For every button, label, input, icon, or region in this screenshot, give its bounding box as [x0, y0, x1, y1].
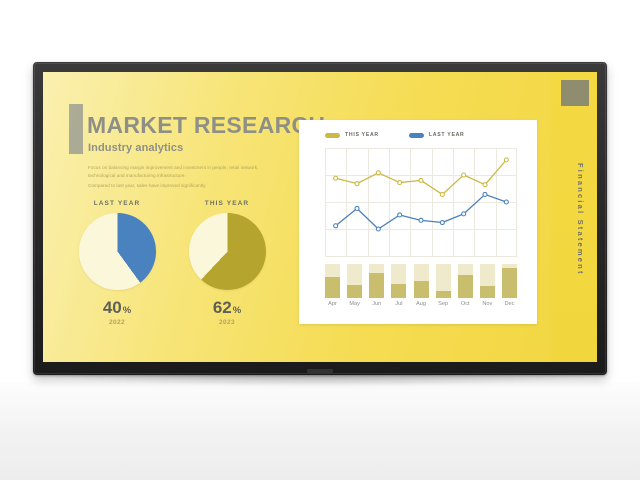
- pie-value-this-year: 62: [213, 298, 232, 317]
- legend-label-this-year: THIS YEAR: [345, 132, 379, 138]
- stacked-bar: [502, 264, 517, 298]
- body-paragraph-2: Compared to last year, sales have improv…: [88, 182, 278, 190]
- bar-series-row: [325, 264, 517, 298]
- month-label: Nov: [480, 301, 495, 307]
- x-axis-month-labels: AprMayJunJulAugSepOctNovDec: [325, 301, 517, 307]
- pie-caption-last-year: LAST YEAR: [63, 200, 171, 207]
- month-label: Dec: [502, 301, 517, 307]
- bar-segment-remaining: [369, 264, 384, 273]
- month-label: Sep: [436, 301, 451, 307]
- title-accent-bar: [69, 104, 83, 154]
- bezel-brand-mark: [307, 369, 333, 373]
- data-point-marker: [398, 213, 402, 217]
- side-strip: Financial Statement: [551, 72, 597, 362]
- stacked-bar: [325, 264, 340, 298]
- stacked-bar: [347, 264, 362, 298]
- legend-item-last-year: LAST YEAR: [409, 132, 465, 138]
- page-subtitle: Industry analytics: [88, 142, 183, 154]
- legend-item-this-year: THIS YEAR: [325, 132, 379, 138]
- month-label: May: [347, 301, 362, 307]
- legend-label-last-year: LAST YEAR: [429, 132, 465, 138]
- bar-segment-filled: [391, 284, 406, 298]
- stacked-bar: [369, 264, 384, 298]
- bar-segment-remaining: [480, 264, 495, 286]
- stacked-bar: [436, 264, 451, 298]
- page-title: MARKET RESEARCH: [87, 112, 325, 139]
- pie-value-last-year: 40: [103, 298, 122, 317]
- pie-caption-this-year: THIS YEAR: [173, 200, 281, 207]
- bar-segment-filled: [480, 286, 495, 298]
- bar-segment-filled: [347, 285, 362, 298]
- legend-swatch-last-year: [409, 133, 424, 138]
- month-label: Apr: [325, 301, 340, 307]
- floor-background: [0, 382, 640, 480]
- chart-legend: THIS YEAR LAST YEAR: [325, 132, 465, 138]
- data-point-marker: [504, 158, 508, 162]
- stacked-bar: [480, 264, 495, 298]
- data-point-marker: [419, 218, 423, 222]
- line-path-this-year: [336, 160, 507, 195]
- legend-swatch-this-year: [325, 133, 340, 138]
- bar-segment-remaining: [458, 264, 473, 275]
- bar-segment-remaining: [347, 264, 362, 285]
- chart-card: THIS YEAR LAST YEAR AprMayJunJulAugSepOc…: [299, 120, 537, 324]
- screen-content: MARKET RESEARCH Industry analytics Focus…: [43, 72, 597, 362]
- bar-segment-filled: [458, 275, 473, 298]
- bar-segment-remaining: [436, 264, 451, 291]
- body-paragraph-1: Focus on balancing margin improvement an…: [88, 164, 278, 180]
- pie-year-last-year: 2022: [63, 319, 171, 326]
- month-label: Oct: [458, 301, 473, 307]
- data-point-marker: [398, 181, 402, 185]
- bar-segment-filled: [414, 281, 429, 298]
- month-label: Jul: [391, 301, 406, 307]
- side-vertical-label: Financial Statement: [565, 124, 585, 314]
- line-plot-area: [325, 148, 517, 256]
- data-point-marker: [483, 192, 487, 196]
- side-accent-block: [561, 80, 589, 106]
- bar-segment-filled: [369, 273, 384, 298]
- line-series-svg: [325, 148, 517, 256]
- slide-left-column: MARKET RESEARCH Industry analytics Focus…: [43, 72, 299, 362]
- data-point-marker: [462, 173, 466, 177]
- data-point-marker: [504, 200, 508, 204]
- month-label: Jun: [369, 301, 384, 307]
- pie-chart-this-year: [189, 213, 266, 290]
- gridline-horizontal: [325, 256, 517, 257]
- bar-segment-remaining: [414, 264, 429, 281]
- screenshot-stage: MARKET RESEARCH Industry analytics Focus…: [0, 0, 640, 480]
- month-label: Aug: [414, 301, 429, 307]
- pie-chart-last-year: [79, 213, 156, 290]
- data-point-marker: [376, 227, 380, 231]
- bar-segment-filled: [502, 268, 517, 298]
- data-point-marker: [462, 212, 466, 216]
- data-point-marker: [355, 206, 359, 210]
- pie-card-last-year: LAST YEAR 40% 2022: [63, 200, 171, 326]
- data-point-marker: [376, 171, 380, 175]
- display-monitor: MARKET RESEARCH Industry analytics Focus…: [33, 62, 607, 375]
- data-point-marker: [483, 183, 487, 187]
- data-point-marker: [334, 224, 338, 228]
- bar-segment-remaining: [391, 264, 406, 284]
- data-point-marker: [355, 182, 359, 186]
- data-point-marker: [440, 221, 444, 225]
- data-point-marker: [334, 176, 338, 180]
- pie-stat-this-year: 62%: [173, 299, 281, 316]
- pie-percent-symbol-this-year: %: [233, 305, 241, 316]
- line-path-last-year: [336, 194, 507, 229]
- pie-percent-symbol-last-year: %: [123, 305, 131, 316]
- data-point-marker: [419, 178, 423, 182]
- pie-card-this-year: THIS YEAR 62% 2023: [173, 200, 281, 326]
- bar-segment-filled: [325, 277, 340, 298]
- bar-segment-filled: [436, 291, 451, 298]
- pie-year-this-year: 2023: [173, 319, 281, 326]
- stacked-bar: [391, 264, 406, 298]
- stacked-bar: [458, 264, 473, 298]
- data-point-marker: [440, 192, 444, 196]
- stacked-bar: [414, 264, 429, 298]
- pie-stat-last-year: 40%: [63, 299, 171, 316]
- bar-segment-remaining: [325, 264, 340, 277]
